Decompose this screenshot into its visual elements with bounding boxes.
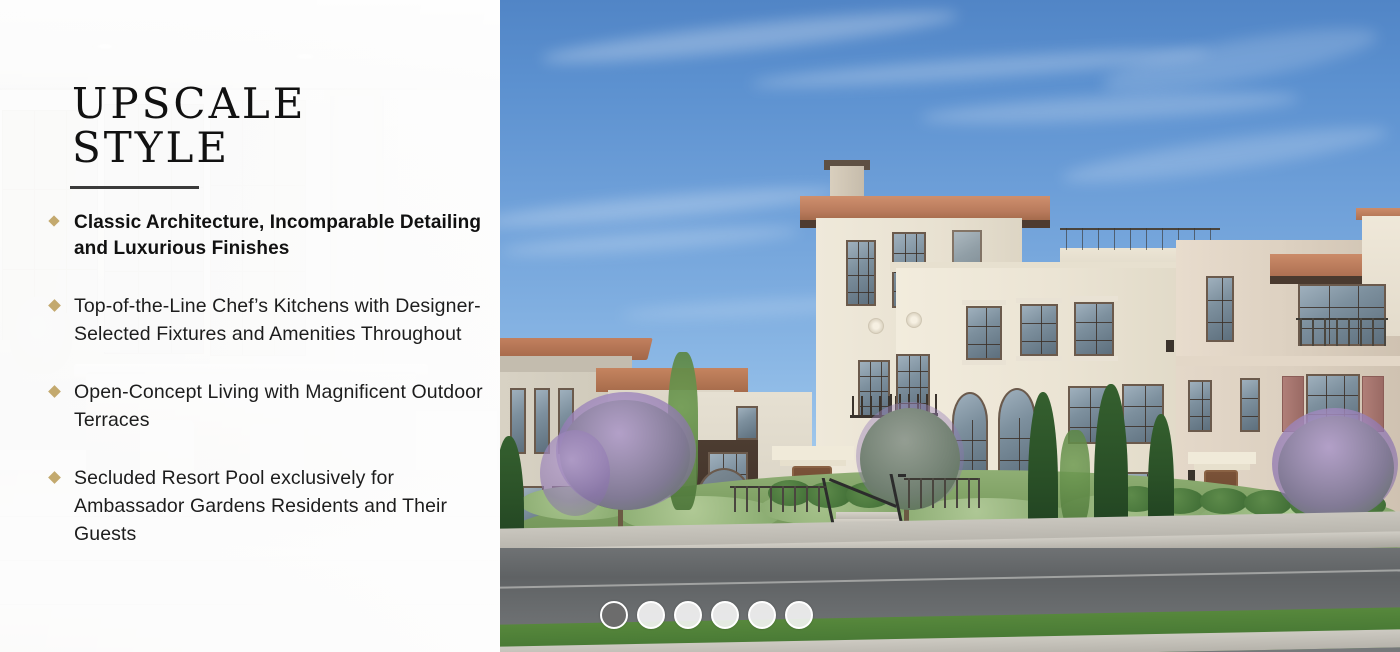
carousel-dot-1[interactable] <box>600 601 628 629</box>
headline-line-2: STYLE <box>72 126 482 170</box>
property-rendering-image <box>500 0 1400 652</box>
feature-text: Classic Architecture, Incomparable Detai… <box>74 212 481 259</box>
list-item: Classic Architecture, Incomparable Detai… <box>48 210 500 262</box>
feature-text: Secluded Resort Pool exclusively for Amb… <box>74 467 447 545</box>
title-divider <box>70 186 199 189</box>
page-title: UPSCALE STYLE <box>72 82 482 170</box>
list-item: Secluded Resort Pool exclusively for Amb… <box>48 464 500 548</box>
feature-text: Open-Concept Living with Magnificent Out… <box>74 381 483 431</box>
diamond-bullet-icon <box>48 215 59 226</box>
feature-text: Top-of-the-Line Chef’s Kitchens with Des… <box>74 295 481 345</box>
carousel-pagination[interactable] <box>600 601 813 629</box>
list-item: Open-Concept Living with Magnificent Out… <box>48 378 500 434</box>
headline-line-1: UPSCALE <box>72 79 306 128</box>
wall-sconce-icon <box>1166 340 1174 352</box>
carousel-dot-4[interactable] <box>711 601 739 629</box>
diamond-bullet-icon <box>48 471 61 484</box>
diamond-bullet-icon <box>48 299 61 312</box>
carousel-dot-2[interactable] <box>637 601 665 629</box>
carousel-dot-5[interactable] <box>748 601 776 629</box>
feature-list: Classic Architecture, Incomparable Detai… <box>48 210 500 548</box>
carousel-dot-3[interactable] <box>674 601 702 629</box>
flowering-tree <box>1272 408 1398 520</box>
carousel-dot-6[interactable] <box>785 601 813 629</box>
left-text-panel: UPSCALE STYLE Classic Architecture, Inco… <box>0 0 500 652</box>
slide-stage: UPSCALE STYLE Classic Architecture, Inco… <box>0 0 1400 652</box>
list-item: Top-of-the-Line Chef’s Kitchens with Des… <box>48 292 500 348</box>
diamond-bullet-icon <box>48 385 61 398</box>
